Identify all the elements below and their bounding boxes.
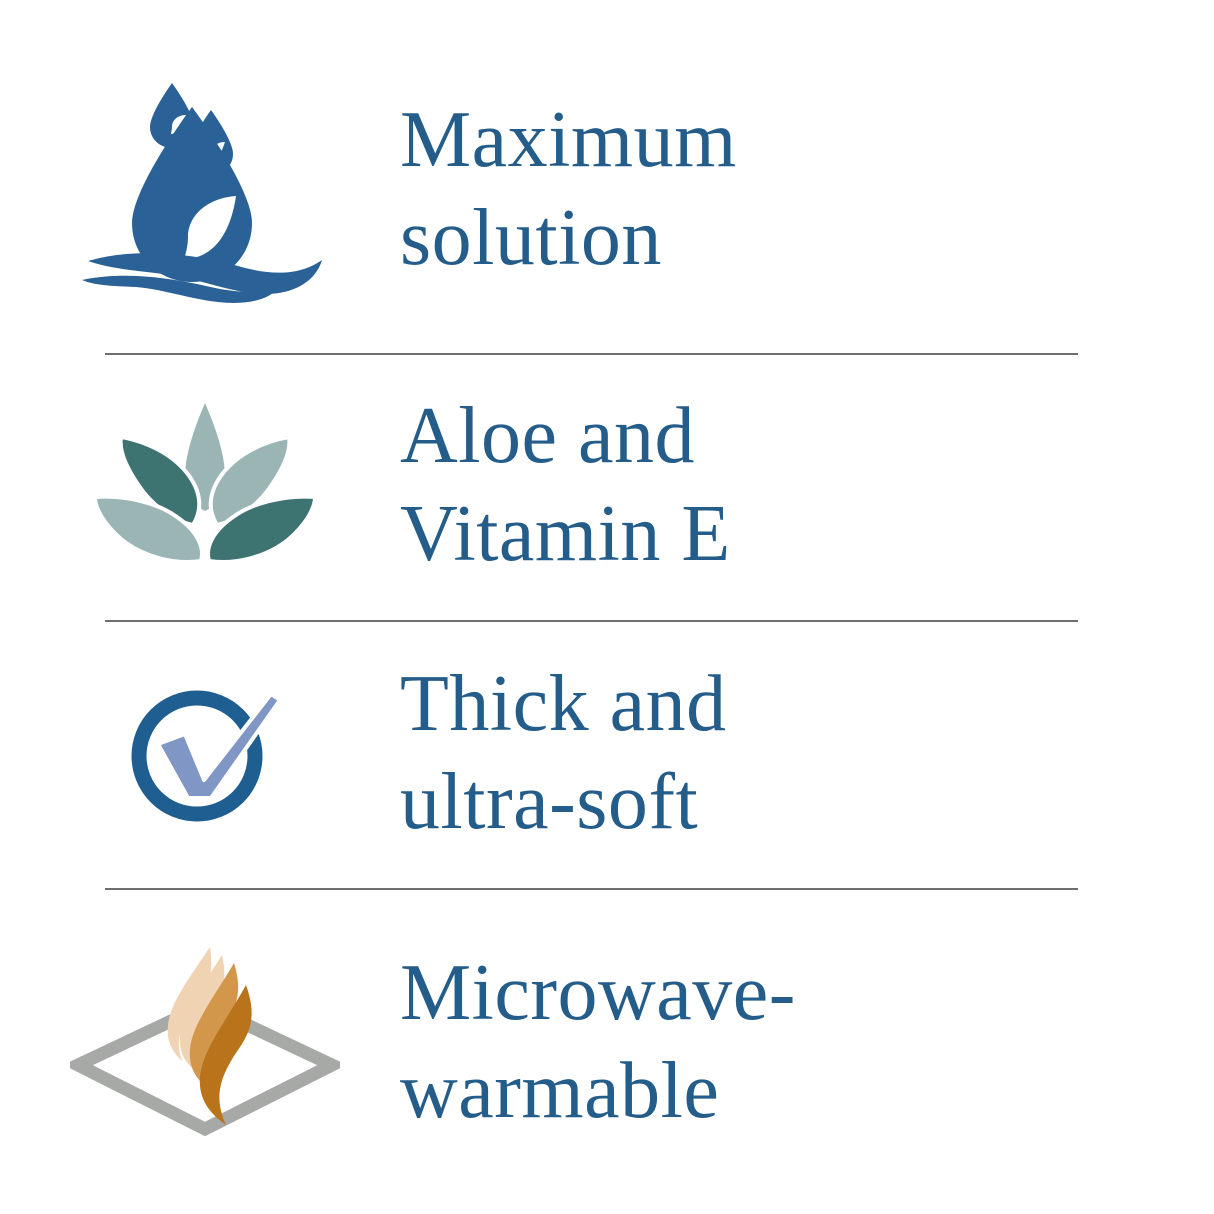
aloe-plant-icon xyxy=(93,401,318,571)
feature-list: Maximum solution A xyxy=(0,0,1214,1214)
feature-label-maximum-solution: Maximum solution xyxy=(400,92,737,287)
feature-row-aloe-and-vitamin-e: Aloe and Vitamin E xyxy=(0,368,1214,603)
feature-label-microwave-warmable: Microwave- warmable xyxy=(400,945,796,1140)
divider xyxy=(105,620,1078,622)
label-cell: Maximum solution xyxy=(400,92,1214,287)
feature-row-microwave-warmable: Microwave- warmable xyxy=(0,905,1214,1180)
divider xyxy=(105,353,1078,355)
icon-cell xyxy=(0,40,400,340)
flame-diamond-icon xyxy=(70,943,340,1143)
feature-label-thick-and-ultra-soft: Thick and ultra-soft xyxy=(400,656,727,851)
divider xyxy=(105,888,1078,890)
icon-cell xyxy=(0,368,400,603)
label-cell: Thick and ultra-soft xyxy=(400,656,1214,851)
label-cell: Aloe and Vitamin E xyxy=(400,388,1214,583)
checkmark-circle-icon xyxy=(125,674,285,834)
icon-cell xyxy=(0,905,400,1180)
icon-cell xyxy=(0,636,400,871)
feature-row-maximum-solution: Maximum solution xyxy=(0,40,1214,340)
label-cell: Microwave- warmable xyxy=(400,945,1214,1140)
water-droplet-waves-icon xyxy=(80,75,330,305)
feature-row-thick-and-ultra-soft: Thick and ultra-soft xyxy=(0,636,1214,871)
feature-label-aloe-and-vitamin-e: Aloe and Vitamin E xyxy=(400,388,731,583)
